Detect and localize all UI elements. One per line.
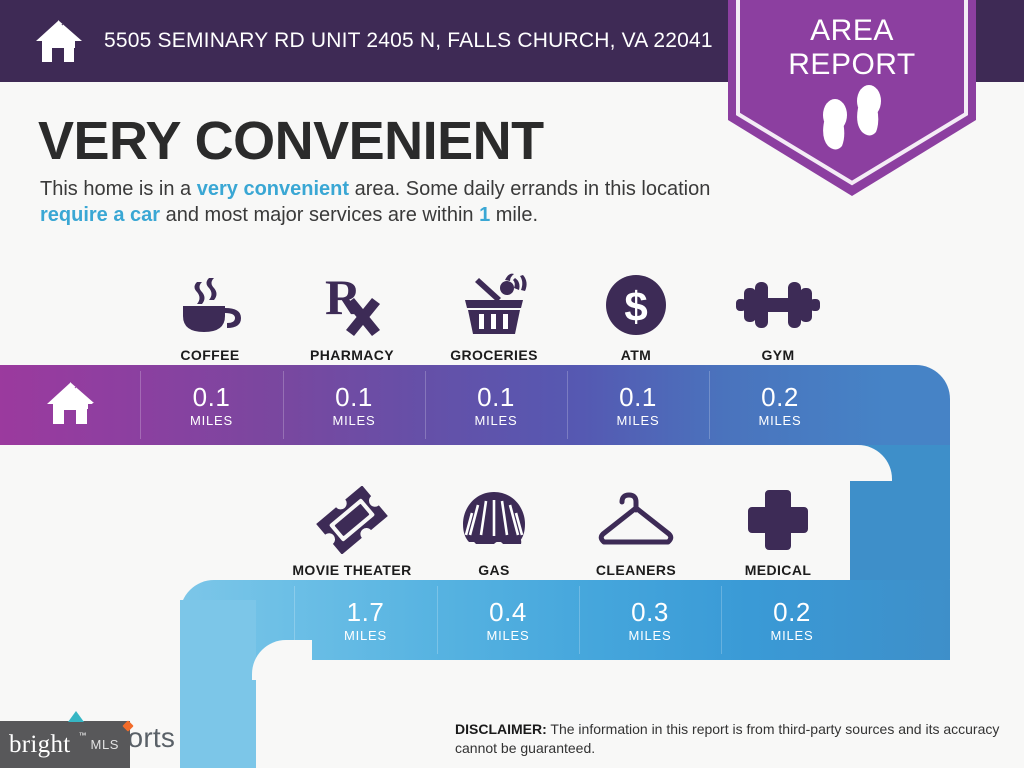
distance-cell-movie-theater: 1.7 MILES	[294, 580, 437, 660]
distance-unit: MILES	[344, 628, 387, 643]
logo-wordmark: bright	[9, 731, 71, 759]
bright-mls-logo: bright ™ MLS	[0, 721, 130, 768]
highlight-require-a-car: require a car	[40, 204, 160, 226]
bar-tail-right	[851, 365, 884, 445]
distance-bar-row-1: 0.1 MILES 0.1 MILES 0.1 MILES 0.1 MILES	[0, 365, 884, 445]
amenity-coffee: COFFEE	[139, 255, 281, 363]
svg-text:$: $	[624, 283, 647, 330]
amenity-groceries: GROCERIES	[423, 255, 565, 363]
home-icon	[32, 15, 84, 67]
highlight-very-convenient: very convenient	[197, 178, 349, 200]
distance-value: 0.1	[477, 383, 515, 411]
home-icon	[45, 379, 95, 432]
sentence-part-2: area. Some daily errands in this locatio…	[349, 178, 710, 200]
badge-line-2: REPORT	[728, 48, 976, 82]
amenity-pharmacy: R PHARMACY	[281, 255, 423, 363]
sentence-part-3: and most major services are within	[160, 204, 479, 226]
logo-suffix: MLS	[91, 737, 120, 752]
dumbbell-icon	[736, 269, 820, 341]
svg-text:R: R	[325, 272, 362, 325]
distance-cell-pharmacy: 0.1 MILES	[283, 365, 425, 445]
distance-cell-coffee: 0.1 MILES	[140, 365, 283, 445]
property-address: 5505 SEMINARY RD UNIT 2405 N, FALLS CHUR…	[104, 28, 713, 54]
segment-divider	[425, 371, 426, 439]
sentence-part-1: This home is in a	[40, 178, 197, 200]
summary-sentence: This home is in a very convenient area. …	[40, 176, 740, 228]
distance-value: 0.2	[761, 383, 799, 411]
distance-cell-atm: 0.1 MILES	[567, 365, 709, 445]
sentence-part-4: mile.	[490, 204, 538, 226]
distance-unit: MILES	[758, 413, 801, 428]
distance-unit: MILES	[332, 413, 375, 428]
distance-value: 0.2	[773, 598, 811, 626]
distance-cell-gas: 0.4 MILES	[437, 580, 579, 660]
rx-prescription-icon: R	[319, 269, 385, 341]
distance-value: 0.1	[193, 383, 231, 411]
disclaimer-label: DISCLAIMER:	[455, 721, 547, 737]
segment-divider	[140, 371, 141, 439]
icon-row-primary: COFFEE R PHARMACY	[0, 255, 1024, 363]
distance-unit: MILES	[628, 628, 671, 643]
distance-value: 1.7	[347, 598, 385, 626]
distance-unit: MILES	[474, 413, 517, 428]
bar-tail-right-2	[863, 580, 950, 660]
logo-trademark: ™	[79, 731, 87, 740]
segment-divider	[283, 371, 284, 439]
distance-cell-cleaners: 0.3 MILES	[579, 580, 721, 660]
home-marker	[0, 365, 140, 445]
amenity-atm: $ ATM	[565, 255, 707, 363]
segment-divider	[709, 371, 710, 439]
segment-divider	[721, 586, 722, 654]
distance-value: 0.1	[619, 383, 657, 411]
coffee-cup-icon	[175, 269, 245, 341]
distance-value: 0.3	[631, 598, 669, 626]
segment-divider	[437, 586, 438, 654]
snake-connector-left	[180, 600, 256, 768]
grocery-basket-icon	[457, 269, 531, 341]
distance-cell-groceries: 0.1 MILES	[425, 365, 567, 445]
distance-cell-medical: 0.2 MILES	[721, 580, 863, 660]
distance-unit: MILES	[486, 628, 529, 643]
distance-snake: 0.1 MILES 0.1 MILES 0.1 MILES 0.1 MILES	[0, 355, 1024, 768]
segment-divider	[567, 371, 568, 439]
distance-value: 0.4	[489, 598, 527, 626]
distance-unit: MILES	[616, 413, 659, 428]
distance-unit: MILES	[770, 628, 813, 643]
disclaimer: DISCLAIMER: The information in this repo…	[455, 720, 1015, 758]
highlight-mile-count: 1	[479, 204, 490, 226]
page-title: VERY CONVENIENT	[38, 110, 544, 172]
distance-cell-gym: 0.2 MILES	[709, 365, 851, 445]
dollar-coin-icon: $	[604, 269, 668, 341]
amenity-gym: GYM	[707, 255, 849, 363]
area-report-badge: AREA REPORT	[728, 0, 976, 196]
badge-line-1: AREA	[728, 14, 976, 48]
area-report-page: 5505 SEMINARY RD UNIT 2405 N, FALLS CHUR…	[0, 0, 1024, 768]
distance-unit: MILES	[190, 413, 233, 428]
segment-divider	[579, 586, 580, 654]
distance-value: 0.1	[335, 383, 373, 411]
badge-label: AREA REPORT	[728, 14, 976, 82]
